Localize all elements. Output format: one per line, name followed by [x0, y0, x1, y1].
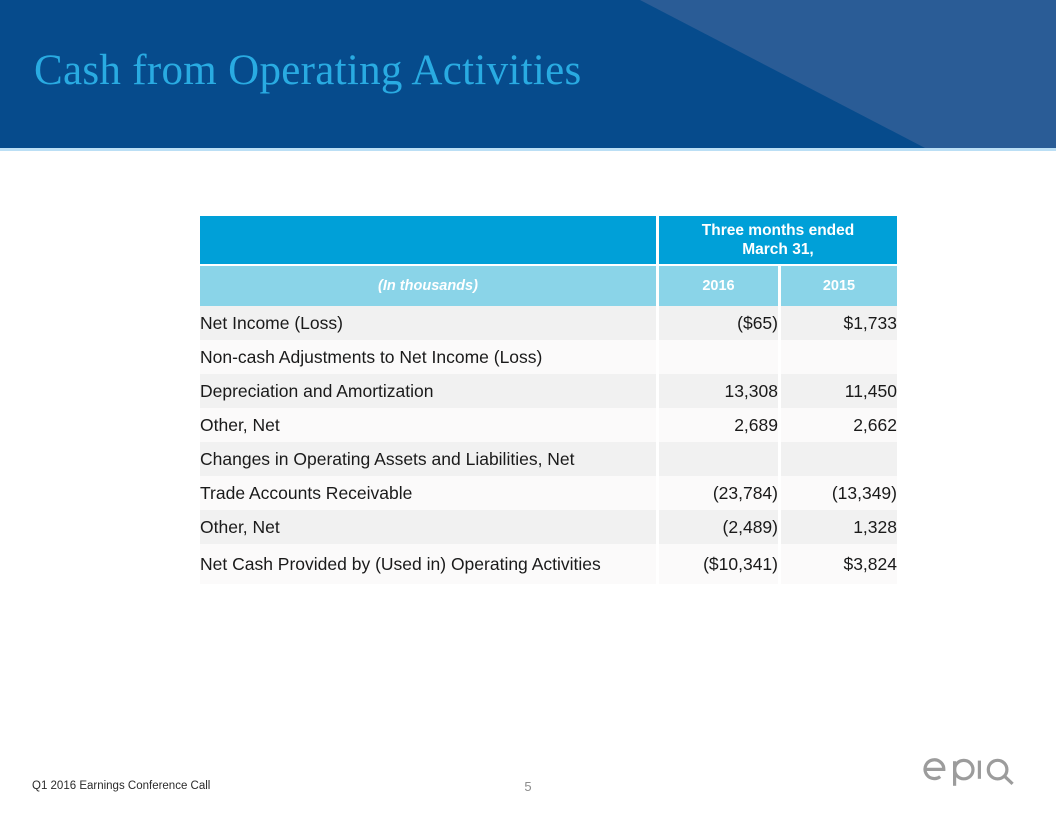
row-label: Net Income (Loss) [200, 306, 659, 340]
table-row: Net Cash Provided by (Used in) Operating… [200, 544, 897, 584]
row-value-2016 [659, 340, 778, 374]
table-row: Non-cash Adjustments to Net Income (Loss… [200, 340, 897, 374]
table-row: Depreciation and Amortization 13,308 11,… [200, 374, 897, 408]
row-value-2015 [778, 442, 897, 476]
row-value-2015: 2,662 [778, 408, 897, 442]
header-period-label: Three months ended March 31, [659, 216, 897, 264]
header-diagonal-accent [600, 0, 1056, 148]
row-value-2015: (13,349) [778, 476, 897, 510]
row-value-2015: 1,328 [778, 510, 897, 544]
row-label: Net Cash Provided by (Used in) Operating… [200, 544, 659, 584]
table-row: Other, Net (2,489) 1,328 [200, 510, 897, 544]
row-value-2015: $3,824 [778, 544, 897, 584]
table-row: Changes in Operating Assets and Liabilit… [200, 442, 897, 476]
row-label: Other, Net [200, 510, 659, 544]
header-period-line2: March 31, [742, 241, 814, 258]
row-label: Depreciation and Amortization [200, 374, 659, 408]
epiq-logo [922, 745, 1040, 789]
page-number: 5 [0, 779, 1056, 794]
row-value-2015: 11,450 [778, 374, 897, 408]
row-value-2016: (2,489) [659, 510, 778, 544]
row-value-2015: $1,733 [778, 306, 897, 340]
page-title: Cash from Operating Activities [34, 46, 582, 95]
row-value-2016: ($10,341) [659, 544, 778, 584]
table-row: Trade Accounts Receivable (23,784) (13,3… [200, 476, 897, 510]
table-row: Other, Net 2,689 2,662 [200, 408, 897, 442]
row-label: Non-cash Adjustments to Net Income (Loss… [200, 340, 659, 374]
header-year-2015: 2015 [778, 264, 897, 306]
row-value-2016: 2,689 [659, 408, 778, 442]
header-underline-rule [0, 148, 1056, 151]
row-value-2016 [659, 442, 778, 476]
table-header-row-years: (In thousands) 2016 2015 [200, 264, 897, 306]
row-label: Trade Accounts Receivable [200, 476, 659, 510]
row-label: Changes in Operating Assets and Liabilit… [200, 442, 659, 476]
header-period-line1: Three months ended [702, 222, 854, 239]
row-label: Other, Net [200, 408, 659, 442]
table-body: Net Income (Loss) ($65) $1,733 Non-cash … [200, 306, 897, 584]
header-blank-cell [200, 216, 659, 264]
table-header: Three months ended March 31, (In thousan… [200, 216, 897, 306]
table-row: Net Income (Loss) ($65) $1,733 [200, 306, 897, 340]
row-value-2016: ($65) [659, 306, 778, 340]
row-value-2015 [778, 340, 897, 374]
header-year-2016: 2016 [659, 264, 778, 306]
table-header-row-period: Three months ended March 31, [200, 216, 897, 264]
cash-flow-table: Three months ended March 31, (In thousan… [200, 216, 897, 584]
row-value-2016: 13,308 [659, 374, 778, 408]
header-units-label: (In thousands) [200, 264, 659, 306]
row-value-2016: (23,784) [659, 476, 778, 510]
